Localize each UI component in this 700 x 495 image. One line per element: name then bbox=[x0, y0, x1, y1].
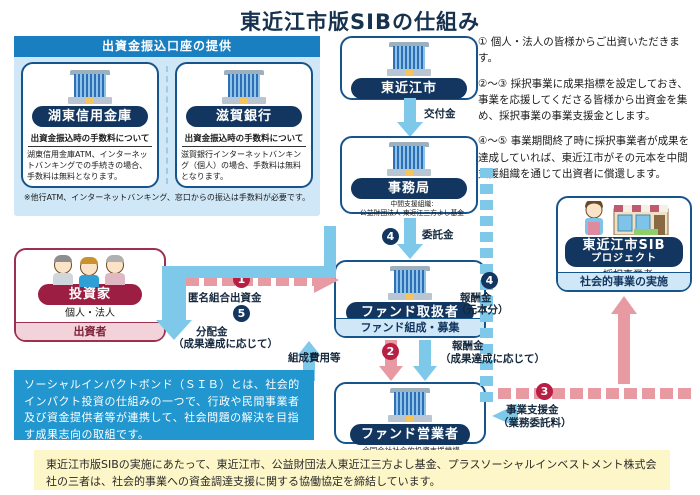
bank-fee-body: 滋賀銀行インターネットバンキング（個人）の場合、手数料は無料となります。 bbox=[181, 150, 307, 182]
shop-and-person-icon bbox=[574, 201, 674, 235]
bank-fee-note: ※他行ATM、インターネットバンキング、窓口からの振込は手数料が必要です。 bbox=[14, 192, 320, 203]
bank-card-kotoshinkin[interactable]: 湖東信用金庫 出資金振込時の手数料について 湖東信用金庫ATM、インターネットバ… bbox=[21, 62, 159, 188]
bank-panel-header: 出資金振込口座の提供 bbox=[14, 36, 320, 57]
label-kofukin: 交付金 bbox=[424, 108, 456, 121]
label-itakukin: 委託金 bbox=[422, 229, 454, 242]
investor-people-icon bbox=[53, 254, 127, 282]
bank-card-shigaginko[interactable]: 滋賀銀行 出資金振込時の手数料について 滋賀銀行インターネットバンキング（個人）… bbox=[175, 62, 313, 188]
jimukyoku-sub-2: 公益財団法人 東近江三方よし基金 bbox=[342, 209, 482, 217]
explanation-text: ① 個人・法人の皆様からご出資いただきます。 ②～③ 採択事業に成果指標を設定し… bbox=[478, 34, 692, 191]
connector-elbow-top bbox=[472, 168, 502, 182]
arrow-fundhandler-down-blue bbox=[412, 340, 438, 382]
explanation-item-3: ④～⑤ 事業期間終了時に採択事業者が成果を達成していれば、東近江市がその元本を中… bbox=[478, 133, 692, 182]
bank-panel-divider bbox=[166, 66, 168, 184]
investor-sub: 個人・法人 bbox=[20, 308, 160, 321]
bank-account-panel: 出資金振込口座の提供 湖東信用金庫 出資金振込時の手数料について 湖東信用金庫A… bbox=[14, 36, 320, 216]
investor-name-label: 投資家 bbox=[38, 284, 142, 305]
jimukyoku-name-label: 事務局 bbox=[351, 178, 467, 199]
fund-handler-strip: ファンド組成・募集 bbox=[336, 318, 484, 336]
arrow-into-sib-project bbox=[610, 292, 638, 384]
explanation-item-2: ②～③ 採択事業に成果指標を設定しておき、事業を応援してくださる皆様から出資金を… bbox=[478, 76, 692, 125]
connector-jimukyoku-to-right bbox=[472, 168, 500, 414]
investor-strip: 出資者 bbox=[16, 322, 164, 340]
bank-building-icon bbox=[66, 70, 114, 104]
jimukyoku-sub-1: 中間支援組織: bbox=[342, 200, 482, 208]
fund-handler-building-icon bbox=[386, 266, 434, 300]
arrow-city-to-jimukyoku bbox=[396, 98, 424, 138]
node-jimukyoku[interactable]: 事務局 中間支援組織: 公益財団法人 東近江三方よし基金 bbox=[340, 136, 478, 214]
arrow-jigyou-shienkin bbox=[486, 382, 692, 404]
page-title: 東近江市版SIBの仕組み bbox=[210, 6, 510, 36]
bank-name-label: 滋賀銀行 bbox=[186, 106, 302, 127]
bottom-agreement-banner: 東近江市版SIBの実施にあたって、東近江市、公益財団法人東近江三方よし基金、プラ… bbox=[34, 450, 670, 490]
city-name-label: 東近江市 bbox=[351, 78, 467, 99]
node-fund-operator[interactable]: ファンド営業者 合同会社社会的投資支援機構 bbox=[334, 382, 486, 444]
sib-project-name-label: 東近江市SIB プロジェクト bbox=[565, 237, 683, 267]
label-jigyou-shienkin: 事業支援金 bbox=[506, 404, 559, 417]
label-houshukin-motohon-sub: （元本分） bbox=[456, 304, 509, 317]
bank-fee-title: 出資金振込時の手数料について bbox=[28, 132, 152, 147]
bank-fee-body: 湖東信用金庫ATM、インターネットバンキングでの手続きの場合、手数料は無料となり… bbox=[27, 150, 153, 182]
city-building-icon bbox=[385, 42, 433, 76]
flow-number-3: 3 bbox=[536, 383, 553, 400]
label-jigyou-shienkin-sub: （業務委託料） bbox=[498, 417, 572, 430]
sib-project-name-line2: プロジェクト bbox=[565, 252, 683, 265]
bank-building-icon bbox=[220, 70, 268, 104]
fund-operator-building-icon bbox=[386, 388, 434, 422]
bank-fee-title: 出資金振込時の手数料について bbox=[182, 132, 306, 147]
sib-project-name-line1: 東近江市SIB bbox=[582, 238, 665, 253]
node-higashiomi-city[interactable]: 東近江市 bbox=[340, 36, 478, 100]
node-investor[interactable]: 投資家 個人・法人 出資者 bbox=[14, 248, 166, 342]
sib-project-strip: 社会的事業の実施 bbox=[558, 272, 690, 290]
explanation-item-1: ① 個人・法人の皆様からご出資いただきます。 bbox=[478, 34, 692, 67]
flow-number-5: 5 bbox=[233, 305, 250, 322]
flow-number-4-houshu: 4 bbox=[481, 272, 498, 289]
sib-definition-box: ソーシャルインパクトボンド（ＳＩＢ）とは、社会的インパクト投資の仕組みの一つで、… bbox=[14, 370, 314, 440]
label-houshukin-motohon: 報酬金 bbox=[460, 292, 492, 305]
label-sosei-hiyou: 組成費用等 bbox=[288, 352, 341, 365]
flow-number-2: 2 bbox=[382, 343, 399, 360]
node-sib-project[interactable]: 東近江市SIB プロジェクト 採択事業者 社会的事業の実施 bbox=[556, 196, 692, 292]
label-bunpaikin-sub: （成果達成に応じて） bbox=[173, 338, 278, 351]
flow-number-4-itakukin: 4 bbox=[382, 228, 399, 245]
label-houshukin-seika: 報酬金 bbox=[452, 340, 484, 353]
bank-name-label: 湖東信用金庫 bbox=[32, 106, 148, 127]
label-houshukin-seika-sub: （成果達成に応じて） bbox=[440, 353, 545, 366]
label-bunpaikin: 分配金 bbox=[196, 326, 228, 339]
jimukyoku-building-icon bbox=[385, 142, 433, 176]
fund-operator-name-label: ファンド営業者 bbox=[350, 424, 470, 445]
arrow-bunpaikin bbox=[150, 226, 340, 342]
arrow-jimukyoku-to-fundhandler bbox=[396, 218, 424, 260]
